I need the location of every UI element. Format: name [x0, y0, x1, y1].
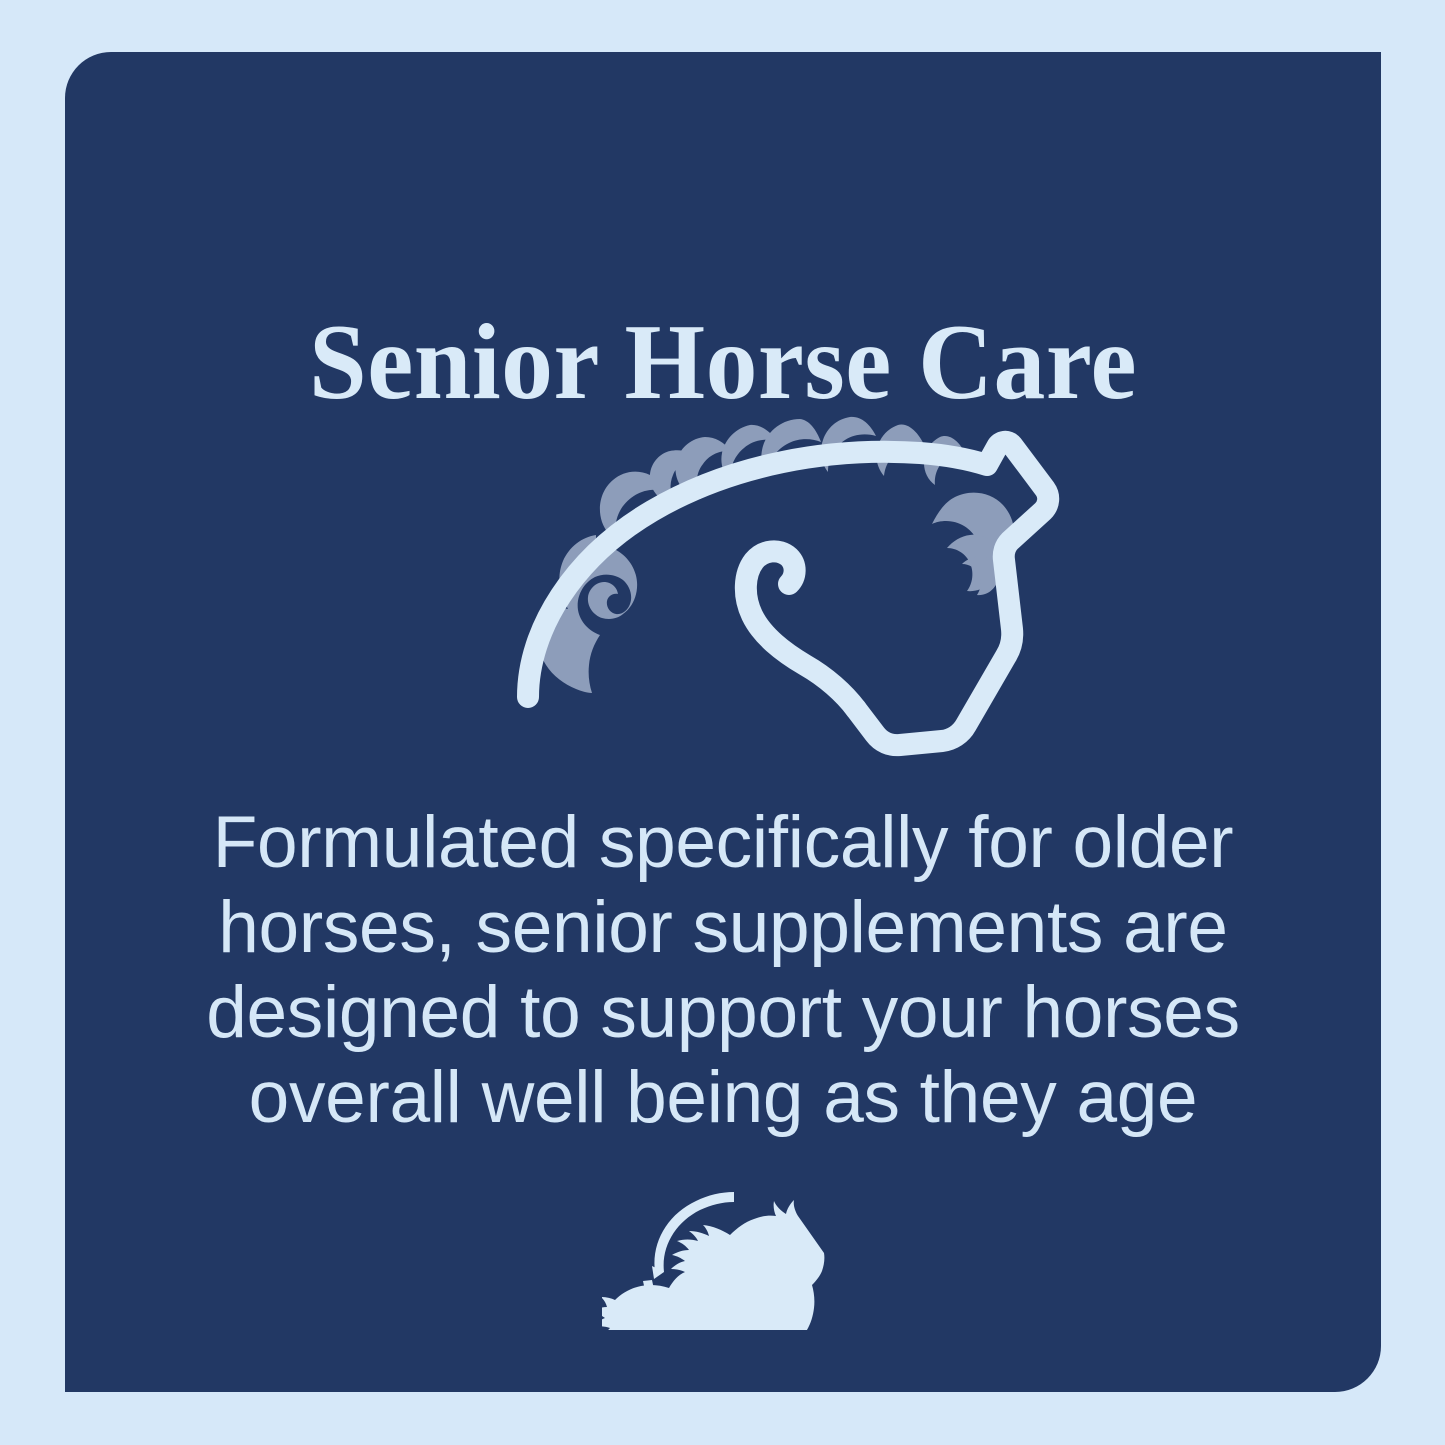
- content-card: Senior Horse Care: [65, 52, 1381, 1392]
- description-line-3: designed to support your horses: [185, 970, 1261, 1055]
- brand-logo-icon: [602, 1180, 842, 1330]
- description-line-4: overall well being as they age: [185, 1055, 1261, 1140]
- page-title: Senior Horse Care: [91, 305, 1354, 422]
- description-text: Formulated specifically for older horses…: [185, 800, 1261, 1140]
- horse-head-icon: [500, 407, 1070, 782]
- description-line-1: Formulated specifically for older: [185, 800, 1261, 885]
- description-line-2: horses, senior supplements are: [185, 885, 1261, 970]
- poster-canvas: Senior Horse Care: [0, 0, 1445, 1445]
